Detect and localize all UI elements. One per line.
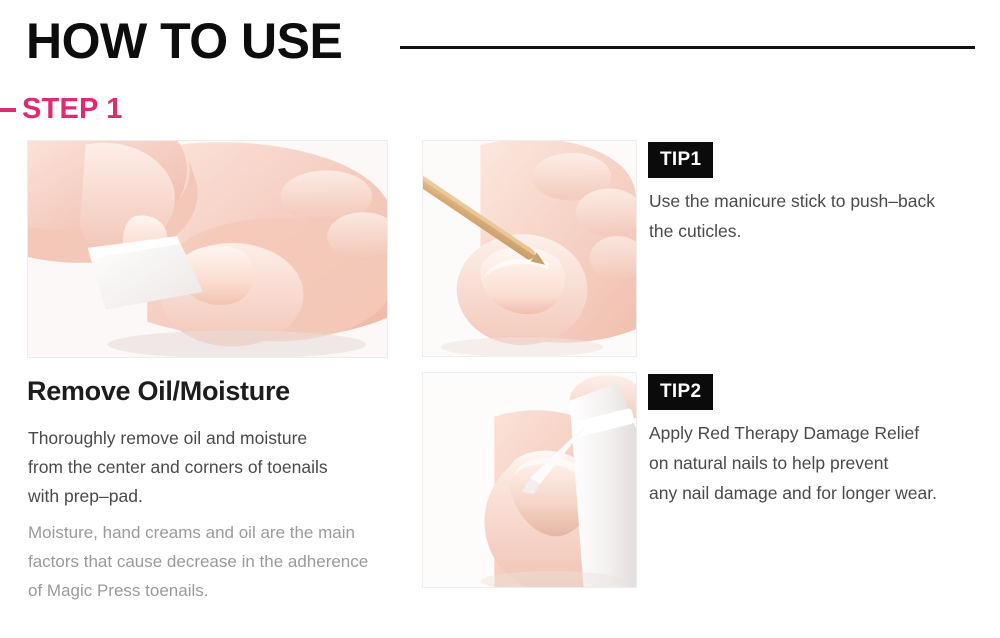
tip1-badge: TIP1 bbox=[648, 142, 713, 178]
step-label-row: STEP 1 bbox=[0, 92, 123, 126]
tip2-text: Apply Red Therapy Damage Relief on natur… bbox=[649, 418, 989, 508]
title-divider-rule bbox=[400, 46, 975, 49]
page-title: HOW TO USE bbox=[26, 10, 342, 72]
remove-oil-heading: Remove Oil/Moisture bbox=[27, 374, 290, 408]
tip2-badge: TIP2 bbox=[648, 374, 713, 410]
tip1-text: Use the manicure stick to push–back the … bbox=[649, 186, 979, 246]
step-label: STEP 1 bbox=[22, 92, 123, 126]
red-therapy-photo bbox=[422, 372, 637, 588]
remove-oil-photo bbox=[27, 140, 388, 358]
dash-icon bbox=[0, 108, 16, 112]
remove-oil-body-text: Thoroughly remove oil and moisture from … bbox=[28, 424, 398, 511]
remove-oil-note-text: Moisture, hand creams and oil are the ma… bbox=[28, 518, 413, 605]
manicure-stick-photo bbox=[422, 140, 637, 357]
